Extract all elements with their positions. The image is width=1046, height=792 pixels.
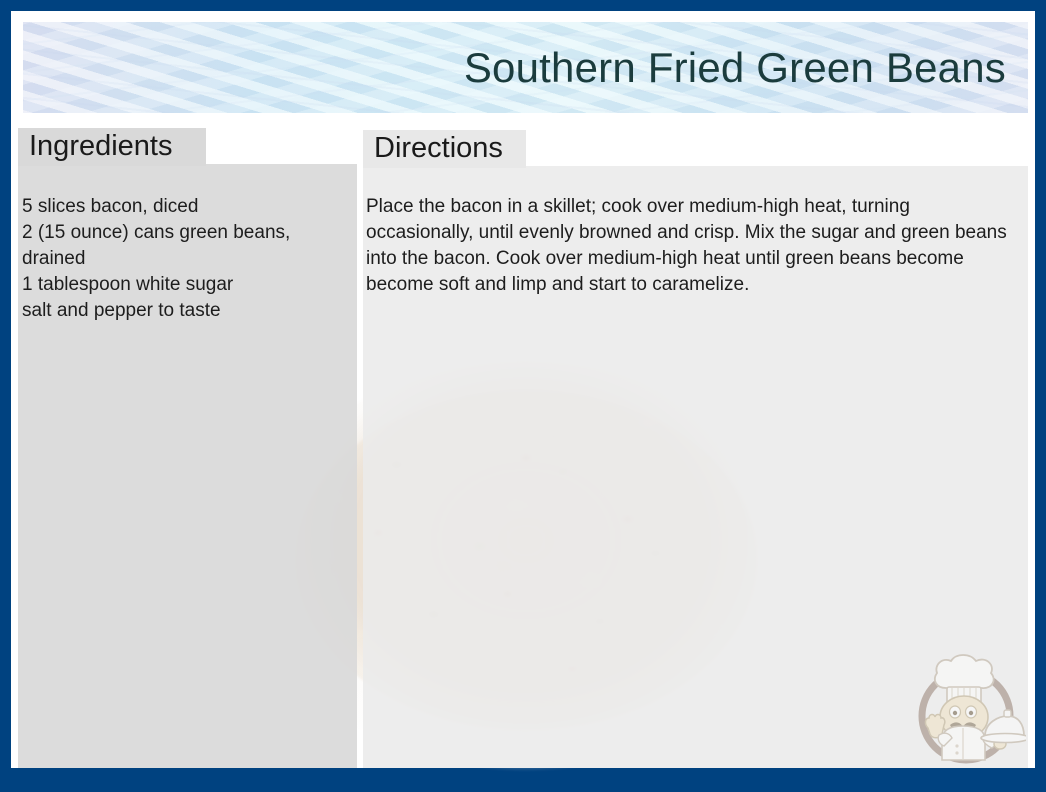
page-title: Southern Fried Green Beans: [464, 44, 1006, 92]
chef-logo-icon: [906, 644, 1026, 766]
title-banner: Southern Fried Green Beans: [23, 22, 1028, 113]
recipe-card-slide: Southern Fried Green Beans Ingredients 5…: [0, 0, 1046, 792]
directions-tab-label: Directions: [374, 134, 503, 163]
ingredients-tab: Ingredients: [18, 128, 206, 166]
ingredients-tab-label: Ingredients: [29, 132, 173, 161]
ingredients-list: 5 slices bacon, diced 2 (15 ounce) cans …: [22, 194, 352, 324]
directions-tab: Directions: [363, 130, 526, 168]
directions-body: Place the bacon in a skillet; cook over …: [366, 194, 1016, 298]
